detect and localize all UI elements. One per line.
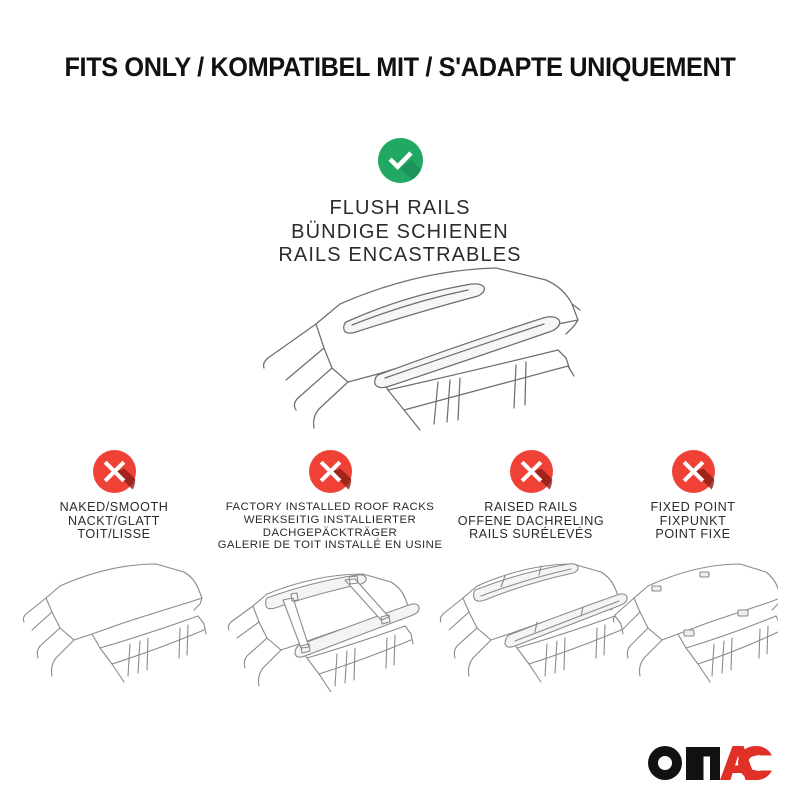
label-line-2: WERKSEITIG INSTALLIERTER <box>205 514 455 527</box>
incompatible-label-fixed-point: FIXED POINT FIXPUNKT POINT FIXE <box>608 501 778 542</box>
car-roof-flush-rails-illustration <box>228 262 588 442</box>
label-line-1: FIXED POINT <box>608 501 778 515</box>
header: FITS ONLY / KOMPATIBEL MIT / S'ADAPTE UN… <box>0 52 800 83</box>
red-x-circle-icon <box>510 450 553 493</box>
incompatible-label-factory-racks: FACTORY INSTALLED ROOF RACKS WERKSEITIG … <box>205 501 455 552</box>
red-x-circle-icon <box>93 450 136 493</box>
green-check-circle-icon <box>378 138 423 183</box>
incompatible-label-raised-rails: RAISED RAILS OFFENE DACHRELING RAILS SUR… <box>431 501 631 542</box>
incompatible-column-factory-racks: FACTORY INSTALLED ROOF RACKS WERKSEITIG … <box>205 450 455 552</box>
compatible-label-line-2: BÜNDIGE SCHIENEN <box>0 221 800 245</box>
label-line-2: FIXPUNKT <box>608 515 778 529</box>
car-roof-bare-illustration <box>14 552 214 697</box>
compatible-label-line-1: FLUSH RAILS <box>0 197 800 221</box>
label-line-3: POINT FIXE <box>608 528 778 542</box>
incompatible-column-fixed-point: FIXED POINT FIXPUNKT POINT FIXE <box>608 450 778 542</box>
car-roof-raised-rails-illustration <box>431 552 631 697</box>
label-line-1: FACTORY INSTALLED ROOF RACKS <box>205 501 455 514</box>
compatibility-infographic: FITS ONLY / KOMPATIBEL MIT / S'ADAPTE UN… <box>0 0 800 800</box>
compatible-label: FLUSH RAILS BÜNDIGE SCHIENEN RAILS ENCAS… <box>0 197 800 268</box>
page-title: FITS ONLY / KOMPATIBEL MIT / S'ADAPTE UN… <box>18 52 782 83</box>
omac-logo: OMAC <box>648 746 772 780</box>
incompatible-column-raised-rails: RAISED RAILS OFFENE DACHRELING RAILS SUR… <box>431 450 631 542</box>
label-line-4: GALERIE DE TOIT INSTALLÉ EN USINE <box>205 539 455 552</box>
label-line-1: NAKED/SMOOTH <box>14 501 214 515</box>
red-x-circle-icon <box>309 450 352 493</box>
compatible-section: FLUSH RAILS BÜNDIGE SCHIENEN RAILS ENCAS… <box>0 138 800 268</box>
red-x-circle-icon <box>672 450 715 493</box>
label-line-3: TOIT/LISSE <box>14 528 214 542</box>
label-line-3: RAILS SURÉLEVÉS <box>431 528 631 542</box>
incompatible-section: NAKED/SMOOTH NACKT/GLATT TOIT/LISSE <box>0 450 800 710</box>
incompatible-column-naked-smooth: NAKED/SMOOTH NACKT/GLATT TOIT/LISSE <box>14 450 214 542</box>
label-line-3: DACHGEPÄCKTRÄGER <box>205 527 455 540</box>
label-line-2: NACKT/GLATT <box>14 515 214 529</box>
car-roof-fixed-point-illustration <box>608 552 778 697</box>
label-line-1: RAISED RAILS <box>431 501 631 515</box>
car-roof-factory-crossbars-illustration <box>205 562 455 697</box>
incompatible-label-naked-smooth: NAKED/SMOOTH NACKT/GLATT TOIT/LISSE <box>14 501 214 542</box>
